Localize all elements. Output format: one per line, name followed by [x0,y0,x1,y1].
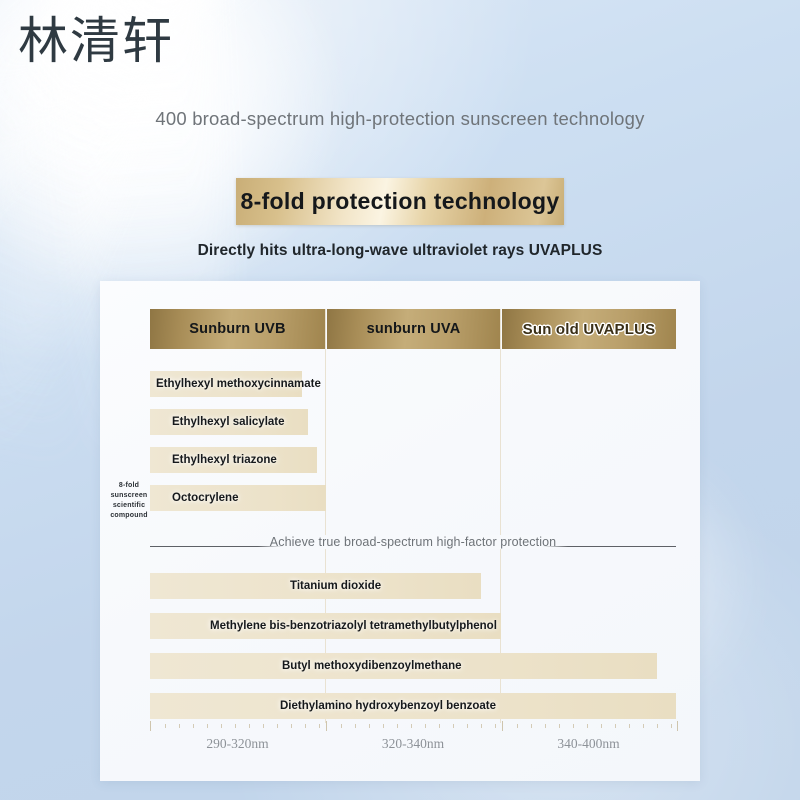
spectrum-chart-card: Sunburn UVB sunburn UVA Sun old UVAPLUS … [100,281,700,781]
y-axis-label-line: compound [108,511,150,521]
ingredient-bar-label: Ethylhexyl methoxycinnamate [156,371,321,397]
range-label-uvaplus: 340-400nm [501,736,676,752]
ingredient-bar-label: Octocrylene [172,485,238,511]
ingredient-bar-label: Ethylhexyl triazone [172,447,277,473]
ingredient-bar-label: Titanium dioxide [290,573,381,599]
tick-group [150,721,327,731]
headline-block: 400 broad-spectrum high-protection sunsc… [0,108,800,130]
range-label-uvb: 290-320nm [150,736,325,752]
tick-group [502,721,678,731]
protection-banner: 8-fold protection technology [236,178,564,225]
y-axis-label-line: 8-fold [108,481,150,491]
tick-group [326,721,503,731]
ingredient-bar-label: Ethylhexyl salicylate [172,409,285,435]
annotation-caption-text: Achieve true broad-spectrum high-factor … [258,535,568,549]
ingredient-bar-label: Butyl methoxydibenzoylmethane [282,653,462,679]
chart-plot-area: Sunburn UVB sunburn UVA Sun old UVAPLUS … [100,281,700,781]
x-axis-ticks [150,721,676,731]
y-axis-label-line: scientific [108,501,150,511]
annotation-caption: Achieve true broad-spectrum high-factor … [150,535,676,549]
column-header-uvb: Sunburn UVB [150,309,325,349]
headline-subtitle: 400 broad-spectrum high-protection sunsc… [0,108,800,130]
column-header-uva: sunburn UVA [327,309,500,349]
column-header-uvaplus: Sun old UVAPLUS [502,309,676,349]
ingredient-bar-label: Diethylamino hydroxybenzoyl benzoate [280,693,496,719]
y-axis-label: 8-fold sunscreen scientific compound [108,481,150,522]
promo-page: 林清轩 400 broad-spectrum high-protection s… [0,0,800,800]
headline-tagline: Directly hits ultra-long-wave ultraviole… [0,242,800,260]
x-axis-range-labels: 290-320nm 320-340nm 340-400nm [150,736,676,752]
column-header-row: Sunburn UVB sunburn UVA Sun old UVAPLUS [150,309,676,349]
range-label-uva: 320-340nm [325,736,501,752]
protection-banner-text: 8-fold protection technology [241,188,560,215]
brand-logo: 林清轩 [18,14,174,69]
y-axis-label-line: sunscreen [108,491,150,501]
ingredient-bar-label: Methylene bis-benzotriazolyl tetramethyl… [210,613,497,639]
